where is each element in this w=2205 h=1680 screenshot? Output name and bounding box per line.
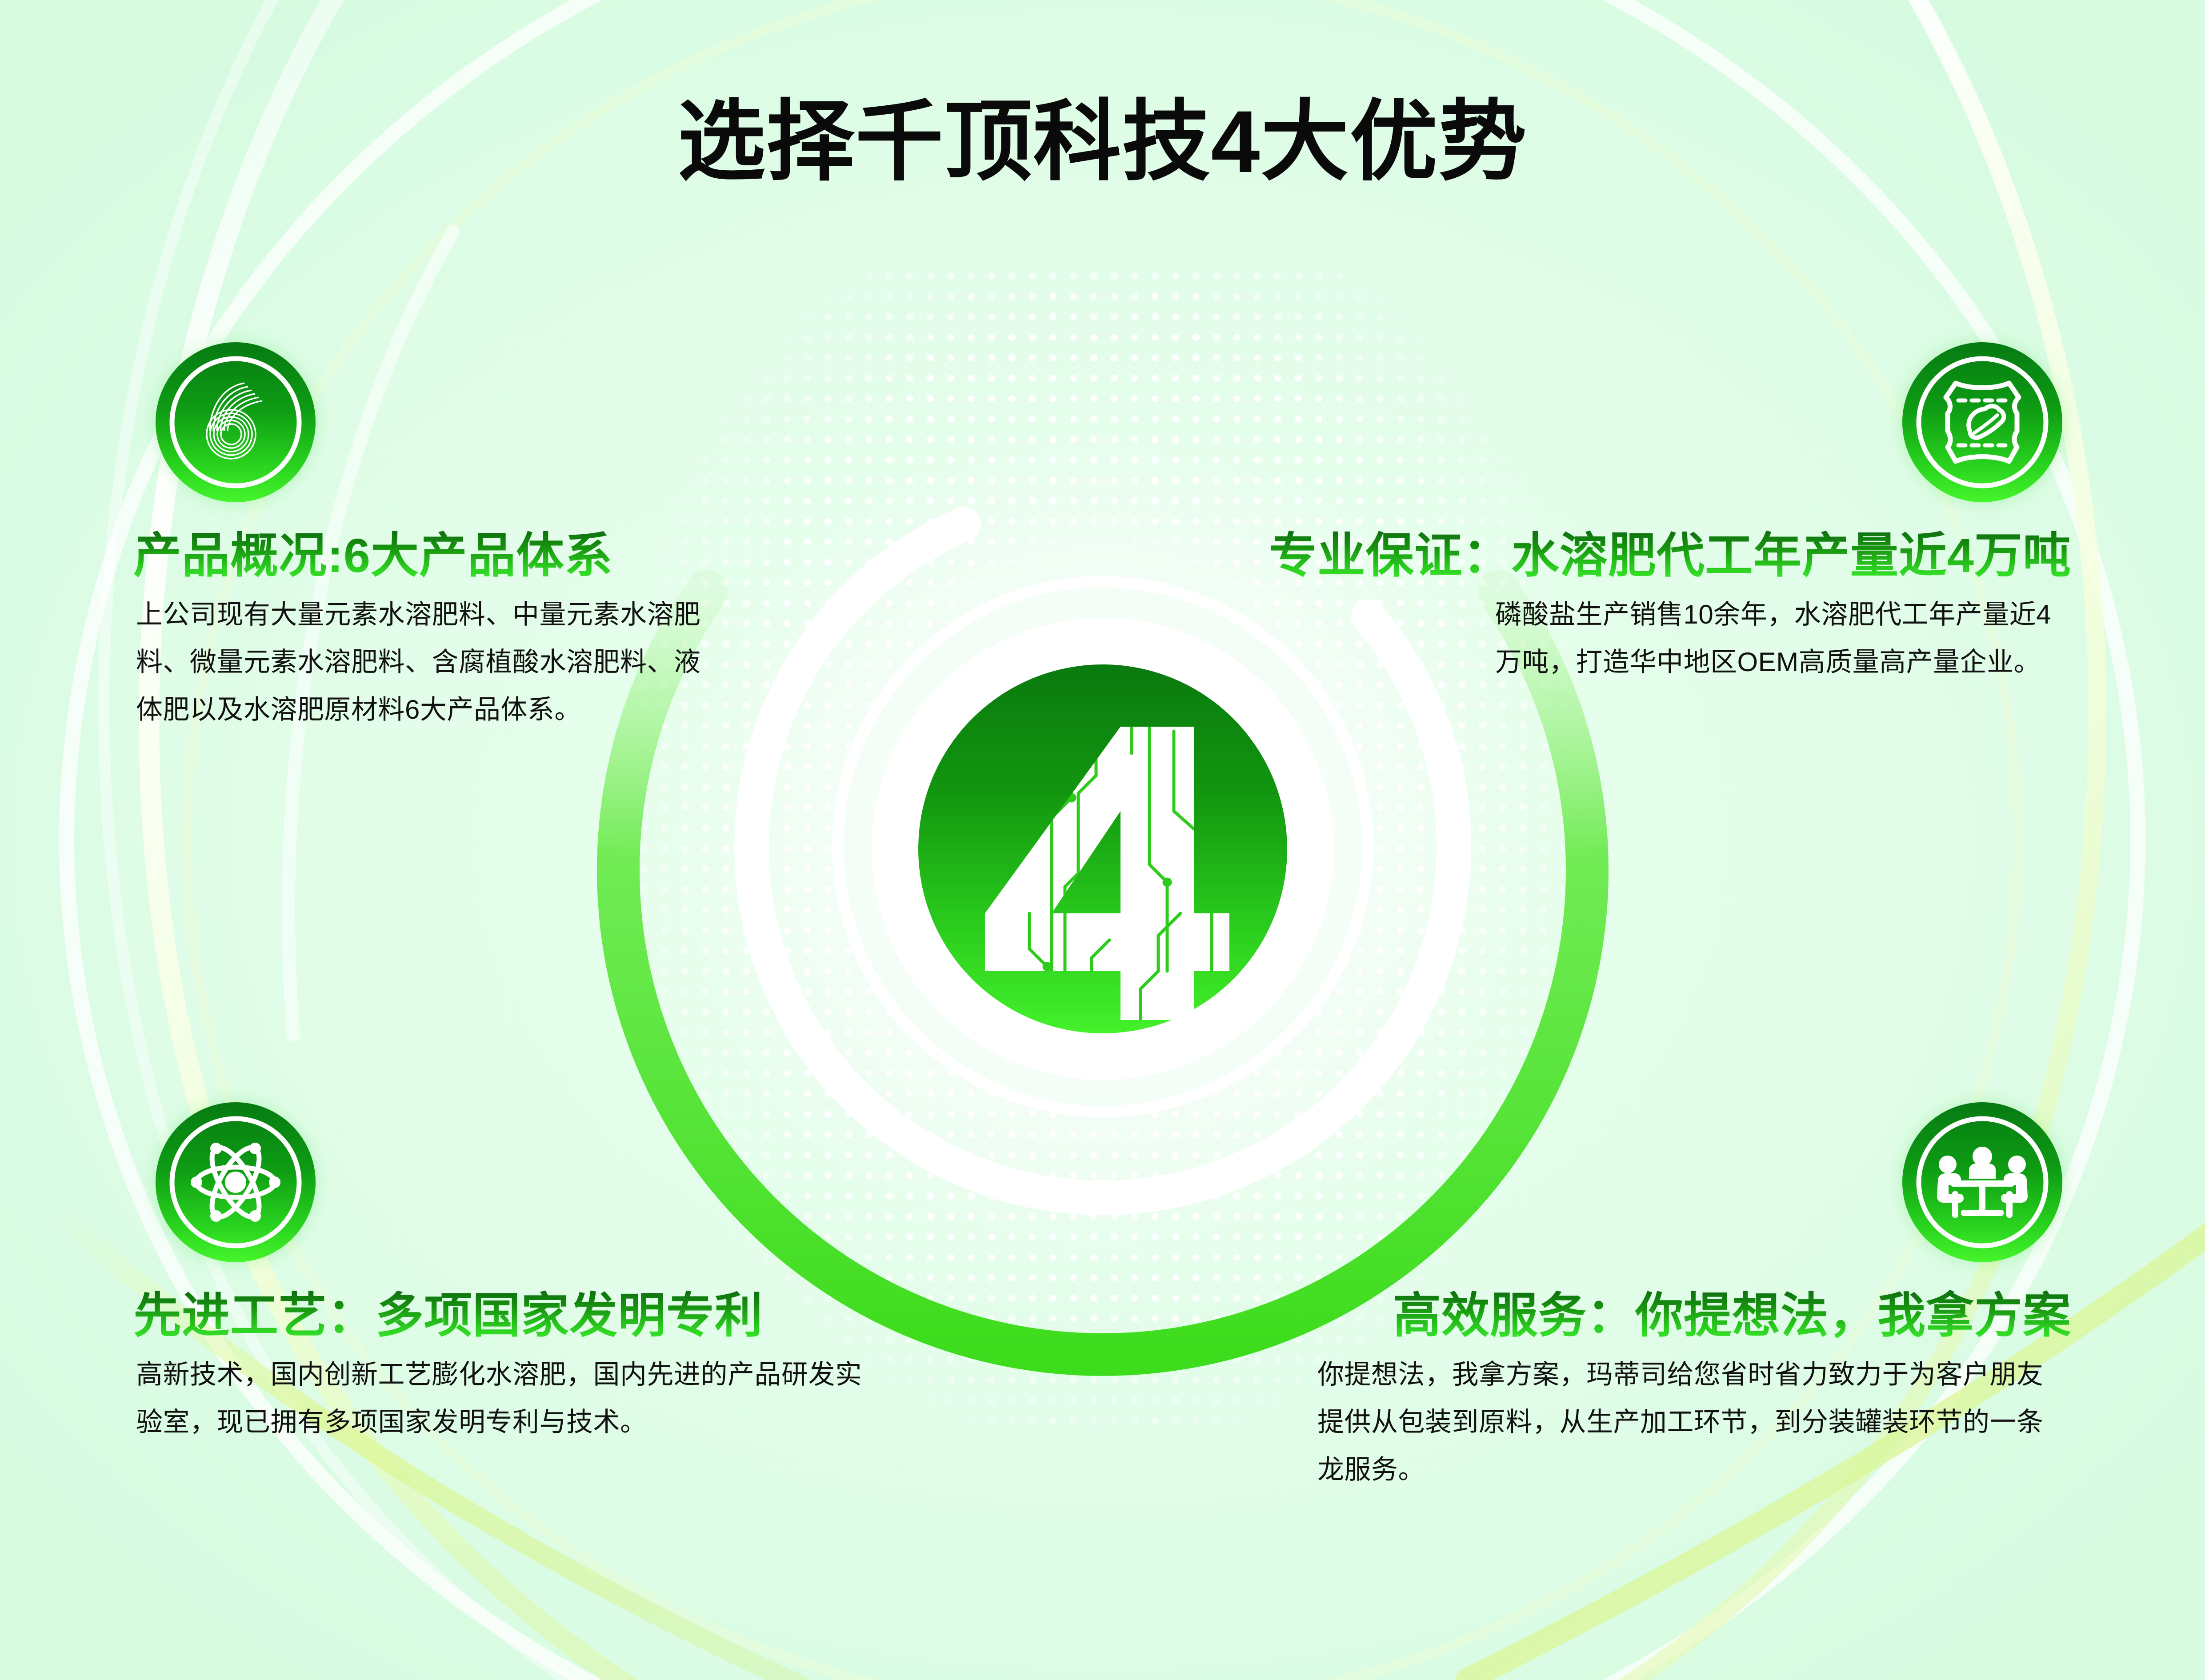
center-number-badge [872, 618, 1334, 1080]
number-six-spiral-icon [156, 342, 316, 502]
panel-process-body: 高新技术，国内创新工艺膨化水溶肥，国内先进的产品研发实验室，现已拥有多项国家发明… [136, 1351, 883, 1446]
panel-products-icon [156, 342, 316, 502]
page-title: 选择千顶科技4大优势 [0, 96, 2205, 188]
panel-products-heading: 产品概况:6大产品体系 [133, 529, 613, 583]
panel-process-heading: 先进工艺：多项国家发明专利 [133, 1289, 763, 1343]
panel-capacity-body: 磷酸盐生产销售10余年，水溶肥代工年产量近4万吨，打造华中地区OEM高质量高产量… [1495, 591, 2069, 686]
fertilizer-bag-icon [1902, 342, 2062, 502]
panel-capacity-icon [1902, 342, 2062, 502]
panel-process-icon [156, 1102, 316, 1262]
panel-service-body: 你提想法，我拿方案，玛蒂司给您省时省力致力于为客户朋友提供从包装到原料，从生产加… [1317, 1351, 2069, 1493]
center-number-4-icon [918, 664, 1287, 1033]
meeting-people-icon [1902, 1102, 2062, 1262]
panel-capacity-heading: 专业保证：水溶肥代工年产量近4万吨 [1269, 529, 2071, 583]
infographic-canvas: 选择千顶科技4大优势 [0, 0, 2205, 1680]
panel-service-heading: 高效服务：你提想法，我拿方案 [1393, 1289, 2071, 1343]
panel-products-body: 上公司现有大量元素水溶肥料、中量元素水溶肥料、微量元素水溶肥料、含腐植酸水溶肥料… [136, 591, 709, 733]
panel-service-icon [1902, 1102, 2062, 1262]
atom-icon [156, 1102, 316, 1262]
